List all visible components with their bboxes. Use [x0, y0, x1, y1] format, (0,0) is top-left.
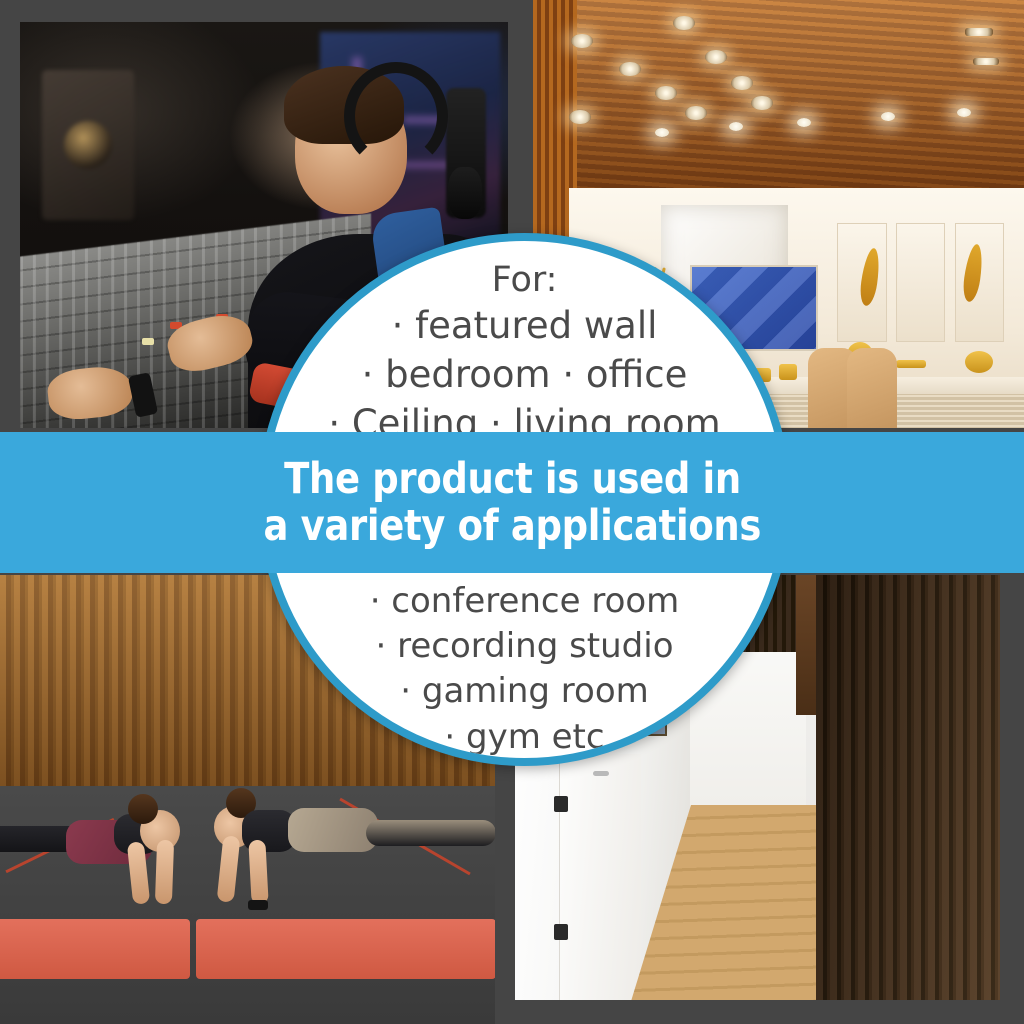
circle-item-featured-wall: · featured wall — [276, 301, 773, 350]
headphones-icon — [344, 62, 448, 170]
wall-switch-panel[interactable] — [554, 796, 568, 812]
circle-item-gym-etc: · gym etc — [266, 715, 783, 760]
circle-bottom-list: · conference room · recording studio · g… — [266, 579, 783, 760]
walnut-slat-partition — [816, 575, 1000, 1000]
chair — [847, 348, 897, 428]
headline-line-1: The product is used in — [284, 456, 741, 502]
headline-line-2: a variety of applications — [263, 503, 761, 549]
corridor-door — [559, 754, 641, 1001]
circle-item-conference-room: · conference room — [266, 579, 783, 624]
headline-banner: The product is used in a variety of appl… — [0, 432, 1024, 573]
wood-slat-ceiling — [533, 0, 1024, 205]
wall-socket-panel[interactable] — [554, 924, 568, 940]
studio-monitor-speaker — [42, 70, 134, 220]
person-plank-left — [0, 808, 210, 948]
door-handle[interactable] — [593, 771, 609, 776]
person-plank-right — [196, 800, 495, 950]
circle-item-gaming-room: · gaming room — [266, 669, 783, 714]
product-application-collage: For: · featured wall · bedroom · office … — [0, 0, 1024, 1024]
circle-item-bedroom-office: · bedroom · office — [276, 350, 773, 399]
circle-item-recording-studio: · recording studio — [266, 624, 783, 669]
